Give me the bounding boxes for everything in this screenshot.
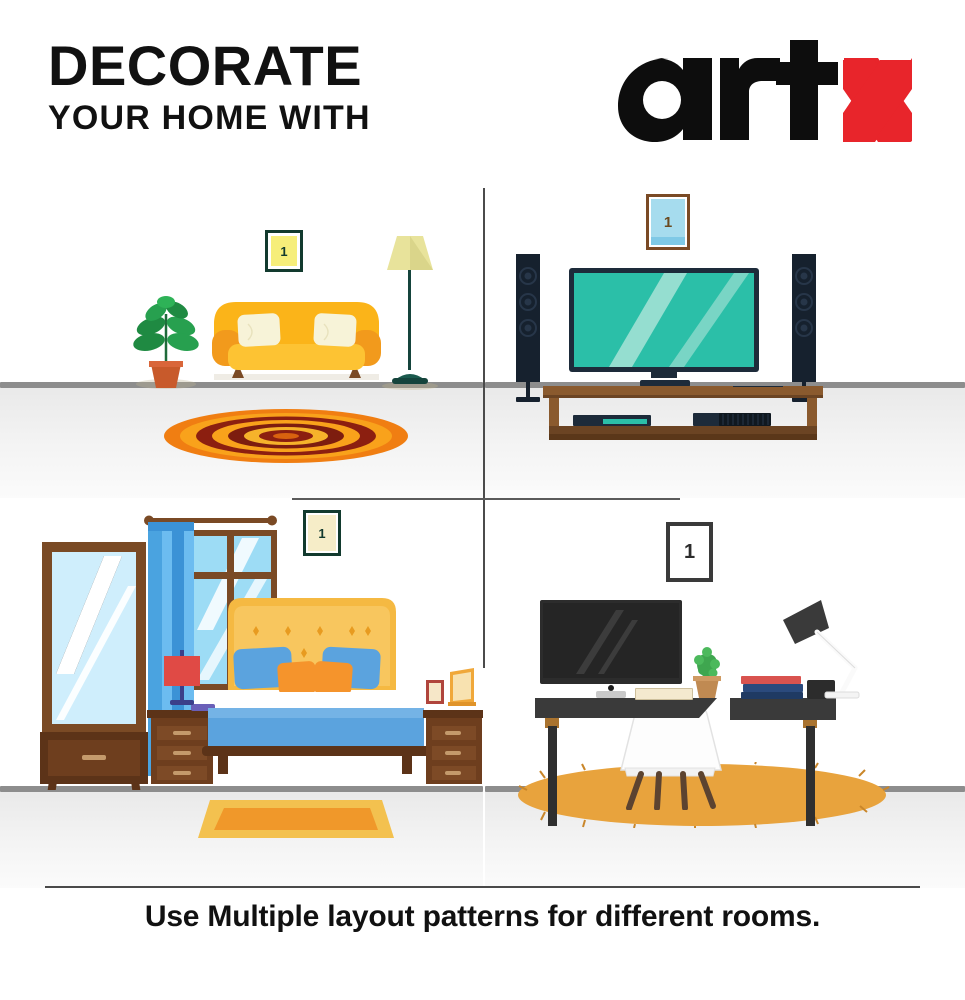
left-speaker <box>513 254 543 404</box>
wall-frame-bedroom[interactable]: 1 <box>303 510 341 556</box>
home-office-scene: 1 <box>485 500 965 888</box>
frame-number-office: 1 <box>684 541 695 564</box>
console-icon <box>543 386 823 446</box>
desk-lamp-icon <box>777 598 863 702</box>
artx-logo-icon <box>612 40 912 144</box>
mirror-dresser <box>40 542 148 790</box>
brand-logo: art X <box>612 40 912 140</box>
sofa-icon <box>204 286 389 390</box>
living-room-scene: 1 <box>0 168 483 498</box>
potted-plant <box>131 278 201 390</box>
monitor-icon <box>540 600 682 698</box>
cactus-icon <box>685 640 729 700</box>
desk-lamp[interactable] <box>777 598 863 702</box>
scenes-grid: 1 <box>0 168 965 888</box>
caption-text: Use Multiple layout patterns for differe… <box>0 900 965 934</box>
rug-icon <box>196 796 396 842</box>
floor-lamp <box>375 228 445 390</box>
wall-frame-living-room[interactable]: 1 <box>265 230 303 272</box>
photo-frames-icon <box>424 668 482 706</box>
plant-icon <box>131 278 201 390</box>
bedroom-rug <box>196 796 396 842</box>
tv-icon <box>569 268 759 380</box>
bedroom-scene: 1 <box>0 500 483 888</box>
headline-line-2: YOUR HOME WITH <box>48 98 371 138</box>
speaker-icon <box>513 254 543 404</box>
bed-icon <box>196 596 436 786</box>
rug-icon <box>163 408 409 464</box>
round-rug-living-room <box>163 408 409 464</box>
frame-number-living-room: 1 <box>280 244 287 259</box>
headline-block: DECORATE YOUR HOME WITH <box>48 38 371 138</box>
potted-cactus <box>685 640 729 700</box>
television[interactable] <box>569 268 759 380</box>
mirror-dresser-icon <box>40 542 148 790</box>
photo-frames-nightstand <box>424 668 482 706</box>
frame-number-tv-room: 1 <box>664 214 672 231</box>
header: DECORATE YOUR HOME WITH <box>0 0 965 170</box>
nightstand-icon <box>423 702 483 788</box>
frame-number-bedroom: 1 <box>318 526 325 541</box>
yellow-sofa <box>204 286 389 390</box>
poster-root: DECORATE YOUR HOME WITH <box>0 0 965 1000</box>
headline-line-1: DECORATE <box>48 38 371 94</box>
right-speaker <box>789 254 819 404</box>
nightstand-right <box>423 702 483 788</box>
monitor[interactable] <box>540 600 682 698</box>
media-console <box>543 386 823 446</box>
tv-room-scene: 1 <box>485 168 965 498</box>
speaker-icon <box>789 254 819 404</box>
wall-frame-tv-room[interactable]: 1 <box>646 194 690 250</box>
bed <box>196 596 436 786</box>
floor-lamp-icon <box>375 228 445 390</box>
caption-divider <box>45 886 920 888</box>
wall-frame-office[interactable]: 1 <box>666 522 713 582</box>
